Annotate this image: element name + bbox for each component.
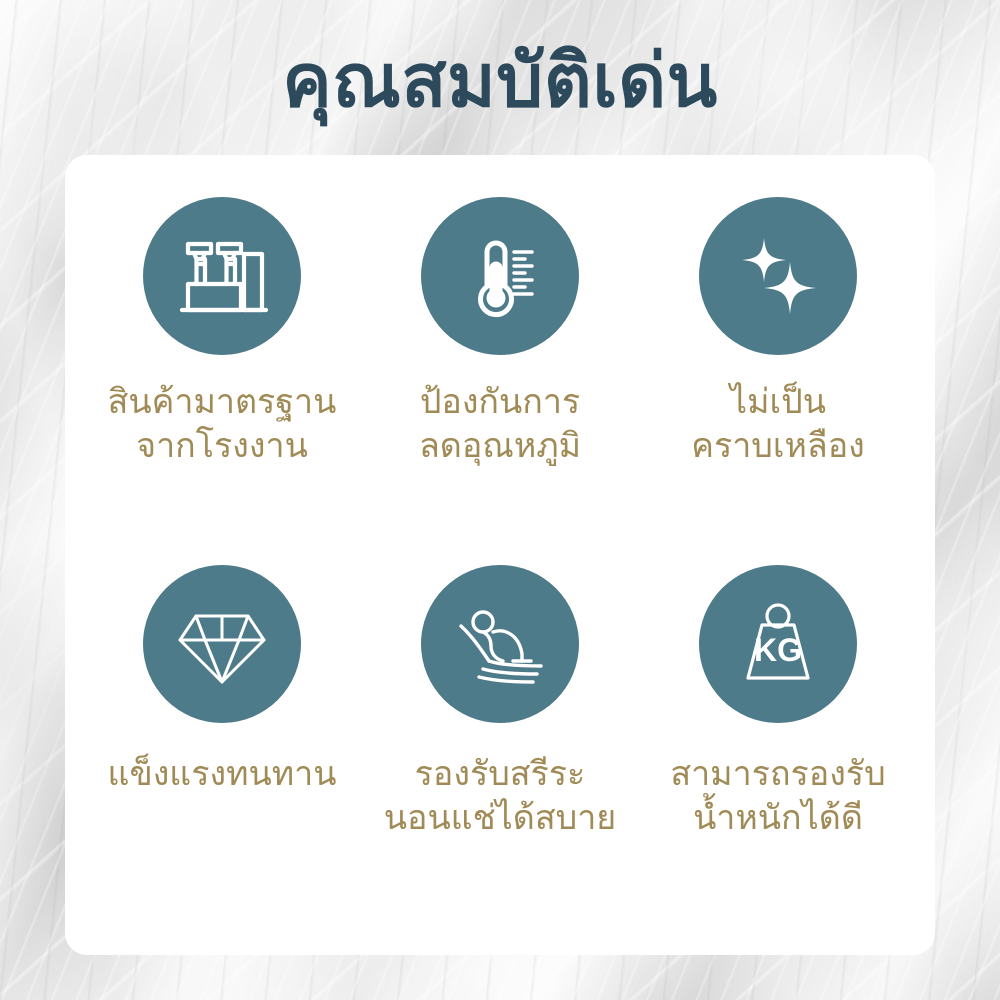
diamond-icon bbox=[143, 565, 301, 723]
caption-line: น้ำหนักได้ดี bbox=[670, 797, 885, 841]
features-grid: สินค้ามาตรฐาน จากโรงงาน bbox=[65, 155, 935, 955]
feature-item-temperature: ป้องกันการ ลดอุณหภูมิ bbox=[361, 197, 639, 561]
caption-line: แข็งแรงทนทาน bbox=[108, 753, 337, 797]
poster-canvas: คุณสมบัติเด่น bbox=[0, 0, 1000, 1000]
sparkle-icon bbox=[699, 197, 857, 355]
feature-item-factory: สินค้ามาตรฐาน จากโรงงาน bbox=[83, 197, 361, 561]
kg-label: KG bbox=[754, 632, 802, 668]
caption-line: รองรับสรีระ bbox=[384, 753, 616, 797]
feature-caption: ไม่เป็น คราบเหลือง bbox=[691, 381, 865, 468]
person-reclining-bathtub-icon bbox=[421, 565, 579, 723]
feature-caption: ป้องกันการ ลดอุณหภูมิ bbox=[419, 381, 581, 468]
page-title: คุณสมบัติเด่น bbox=[0, 42, 1000, 120]
feature-caption: สามารถรองรับ น้ำหนักได้ดี bbox=[670, 753, 885, 840]
feature-caption: รองรับสรีระ นอนแช่ได้สบาย bbox=[384, 753, 616, 840]
caption-line: จากโรงงาน bbox=[108, 425, 337, 469]
factory-icon bbox=[143, 197, 301, 355]
thermometer-icon bbox=[421, 197, 579, 355]
feature-caption: แข็งแรงทนทาน bbox=[108, 753, 337, 797]
feature-item-durable: แข็งแรงทนทาน bbox=[83, 561, 361, 925]
feature-caption: สินค้ามาตรฐาน จากโรงงาน bbox=[108, 381, 337, 468]
caption-line: สินค้ามาตรฐาน bbox=[108, 381, 337, 425]
features-card: สินค้ามาตรฐาน จากโรงงาน bbox=[65, 155, 935, 955]
kg-weight-icon: KG bbox=[699, 565, 857, 723]
caption-line: ลดอุณหภูมิ bbox=[419, 425, 581, 469]
caption-line: สามารถรองรับ bbox=[670, 753, 885, 797]
caption-line: ป้องกันการ bbox=[419, 381, 581, 425]
caption-line: ไม่เป็น bbox=[691, 381, 865, 425]
caption-line: คราบเหลือง bbox=[691, 425, 865, 469]
feature-item-weight-capacity: KG สามารถรองรับ น้ำหนักได้ดี bbox=[639, 561, 917, 925]
feature-item-ergonomic: รองรับสรีระ นอนแช่ได้สบาย bbox=[361, 561, 639, 925]
caption-line: นอนแช่ได้สบาย bbox=[384, 797, 616, 841]
feature-item-no-stain: ไม่เป็น คราบเหลือง bbox=[639, 197, 917, 561]
